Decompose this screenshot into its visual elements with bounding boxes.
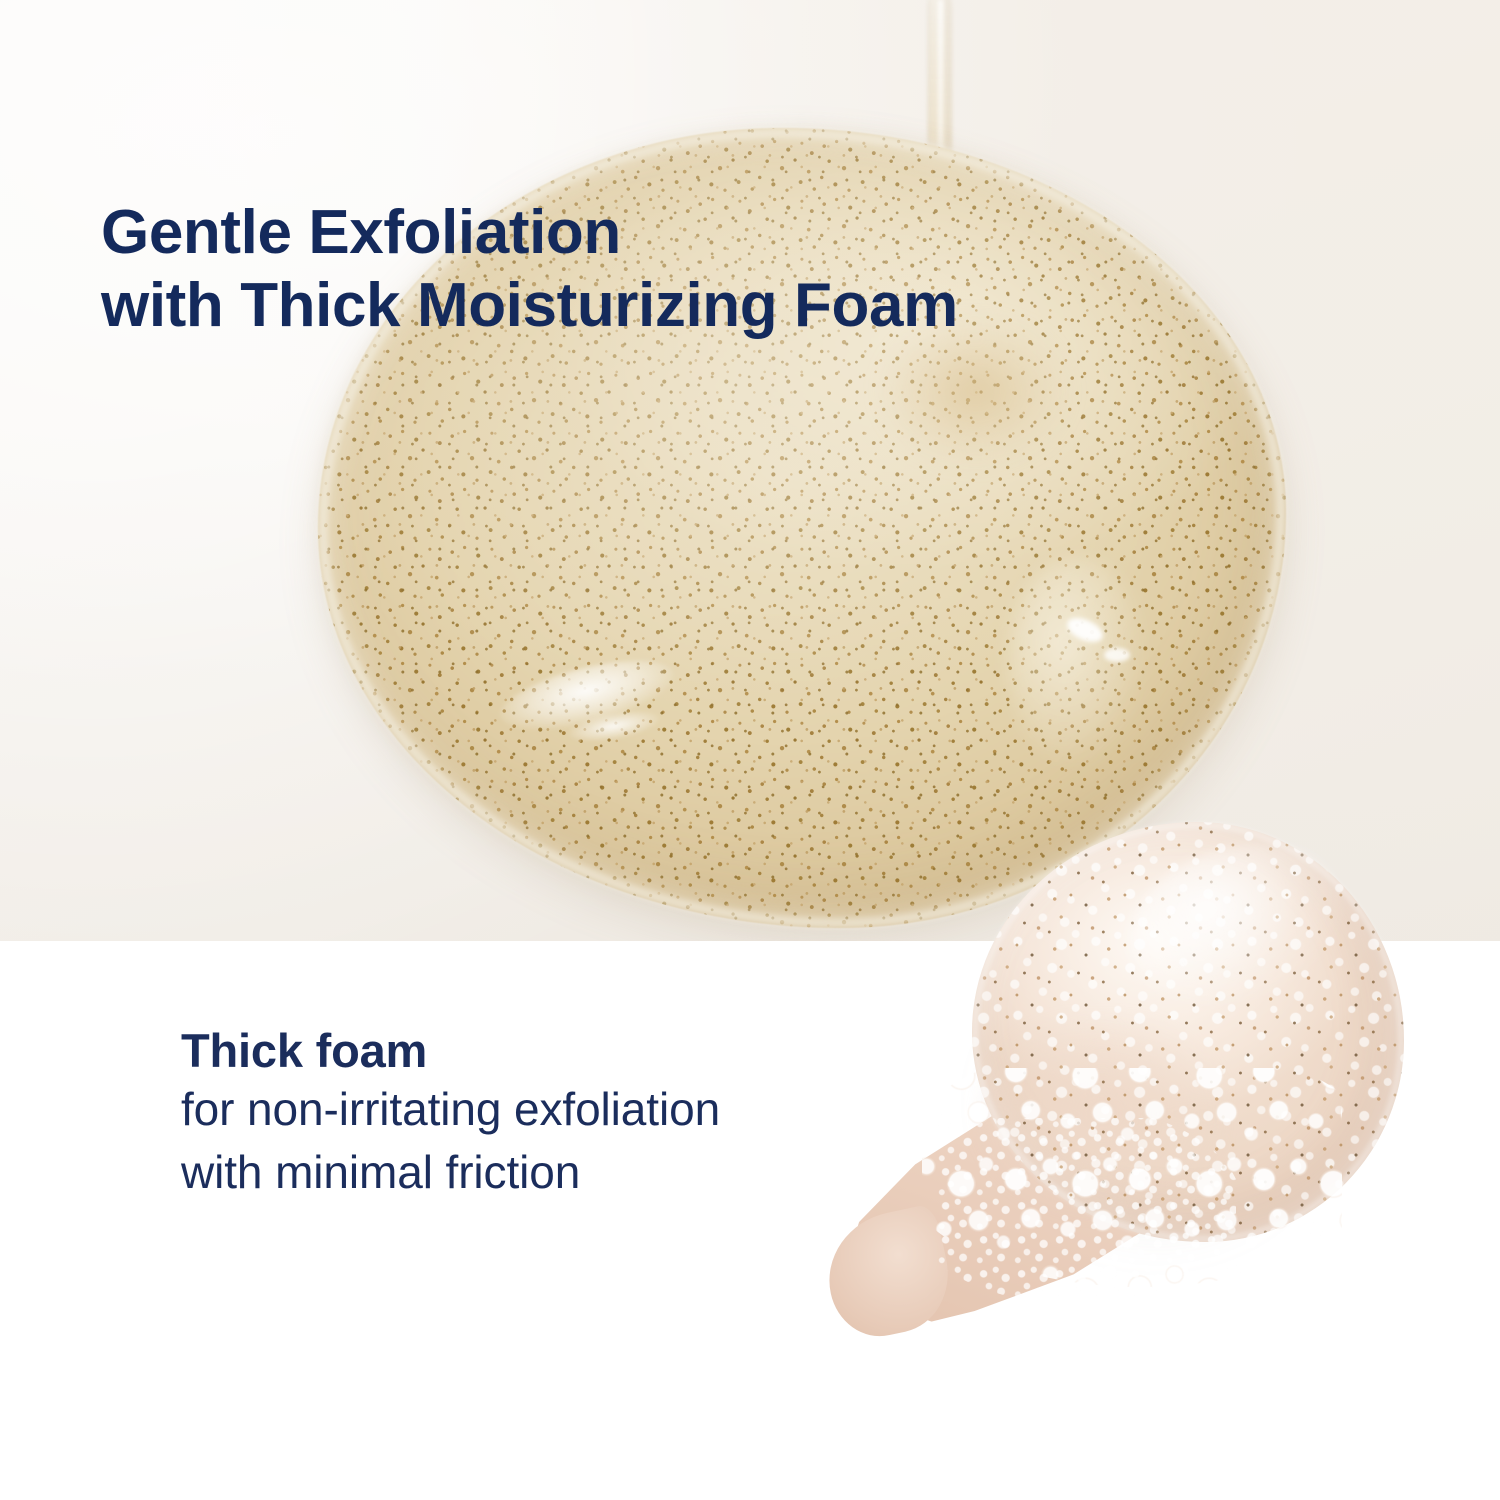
gel-photo-panel: Gentle Exfoliation with Thick Moisturizi…	[0, 0, 1500, 941]
feature-title: Thick foam	[181, 1023, 720, 1078]
gel-highlight-center	[1008, 558, 1148, 768]
product-feature-panel: Gentle Exfoliation with Thick Moisturizi…	[0, 0, 1500, 1500]
headline-line-1: Gentle Exfoliation	[101, 198, 621, 267]
gel-specular-dot-small	[1104, 648, 1130, 662]
foam-swatch	[826, 818, 1404, 1340]
page-headline: Gentle Exfoliation with Thick Moisturizi…	[101, 197, 958, 342]
feature-text-block: Thick foam for non-irritating exfoliatio…	[181, 1023, 720, 1204]
headline-line-2: with Thick Moisturizing Foam	[101, 271, 958, 340]
feature-line-1: for non-irritating exfoliation	[181, 1078, 720, 1141]
feature-line-2: with minimal friction	[181, 1141, 720, 1204]
